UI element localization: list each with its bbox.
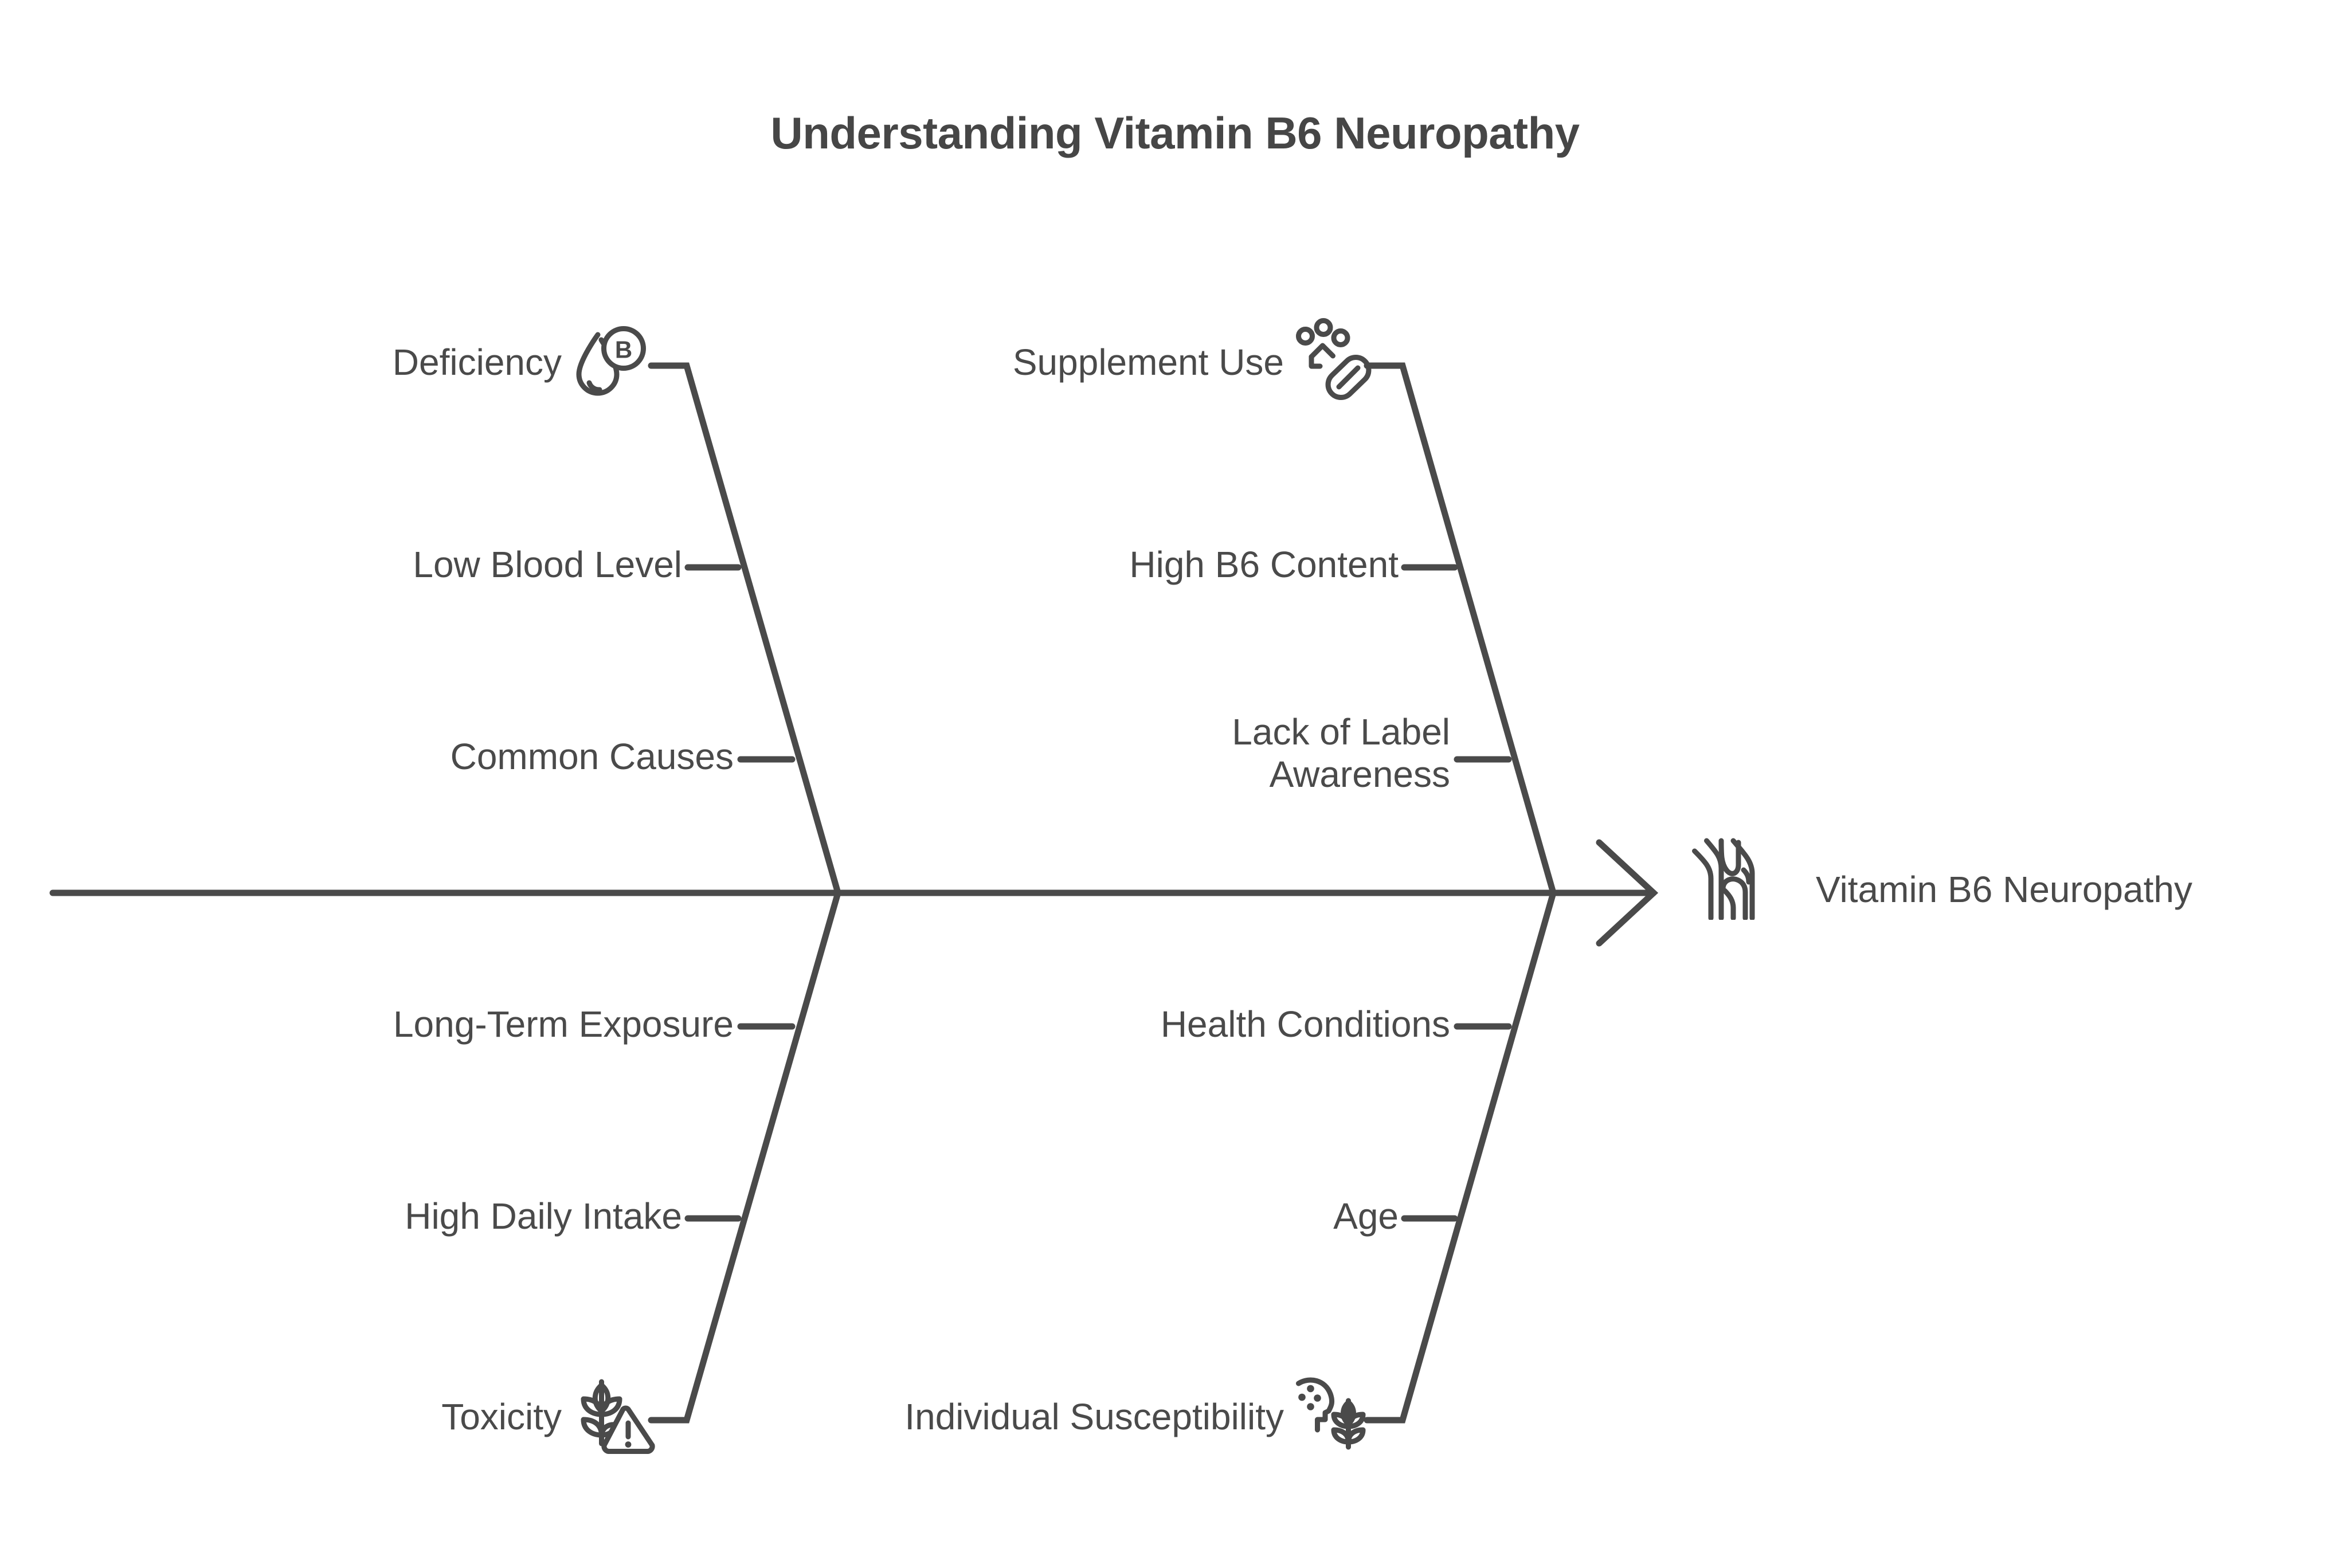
cause-label-high-b6-content: High B6 Content xyxy=(802,543,1399,586)
blood-drop-b-vitamin-icon: B xyxy=(570,321,656,407)
branch-line-top-right xyxy=(1367,366,1553,893)
category-label-supplement-use: Supplement Use xyxy=(688,341,1284,383)
head-dots-wheat-icon xyxy=(1294,1370,1380,1456)
nerve-fibers-icon xyxy=(1685,834,1771,920)
category-label-deficiency: Deficiency xyxy=(115,341,562,383)
category-label-individual-susceptibility: Individual Susceptibility xyxy=(630,1395,1284,1438)
category-label-toxicity: Toxicity xyxy=(115,1395,562,1438)
cause-label-high-daily-intake: High Daily Intake xyxy=(115,1195,682,1237)
cause-label-health-conditions: Health Conditions xyxy=(802,1003,1450,1045)
branch-line-bottom-right xyxy=(1367,893,1553,1420)
cause-label-long-term-exposure: Long-Term Exposure xyxy=(115,1003,734,1045)
branch-bottom-right xyxy=(1367,893,1553,1420)
branch-bottom-left xyxy=(651,893,838,1420)
branch-line-bottom-left xyxy=(651,893,838,1420)
cause-label-lack-of-label-awareness: Lack of Label Awareness xyxy=(860,711,1450,795)
effect-label: Vitamin B6 Neuropathy xyxy=(1816,868,2332,911)
pill-capsule-granules-icon xyxy=(1294,316,1380,402)
cause-label-common-causes: Common Causes xyxy=(115,735,734,778)
fishbone-diagram-canvas: Understanding Vitamin B6 Neuropathy xyxy=(0,0,2350,1568)
spine-group xyxy=(53,842,1654,943)
svg-text:B: B xyxy=(615,336,632,363)
branch-top-left xyxy=(651,366,838,893)
cause-label-low-blood-level: Low Blood Level xyxy=(115,543,682,586)
branch-line-top-left xyxy=(651,366,838,893)
branch-top-right xyxy=(1367,366,1553,893)
cause-label-age: Age xyxy=(917,1195,1399,1237)
